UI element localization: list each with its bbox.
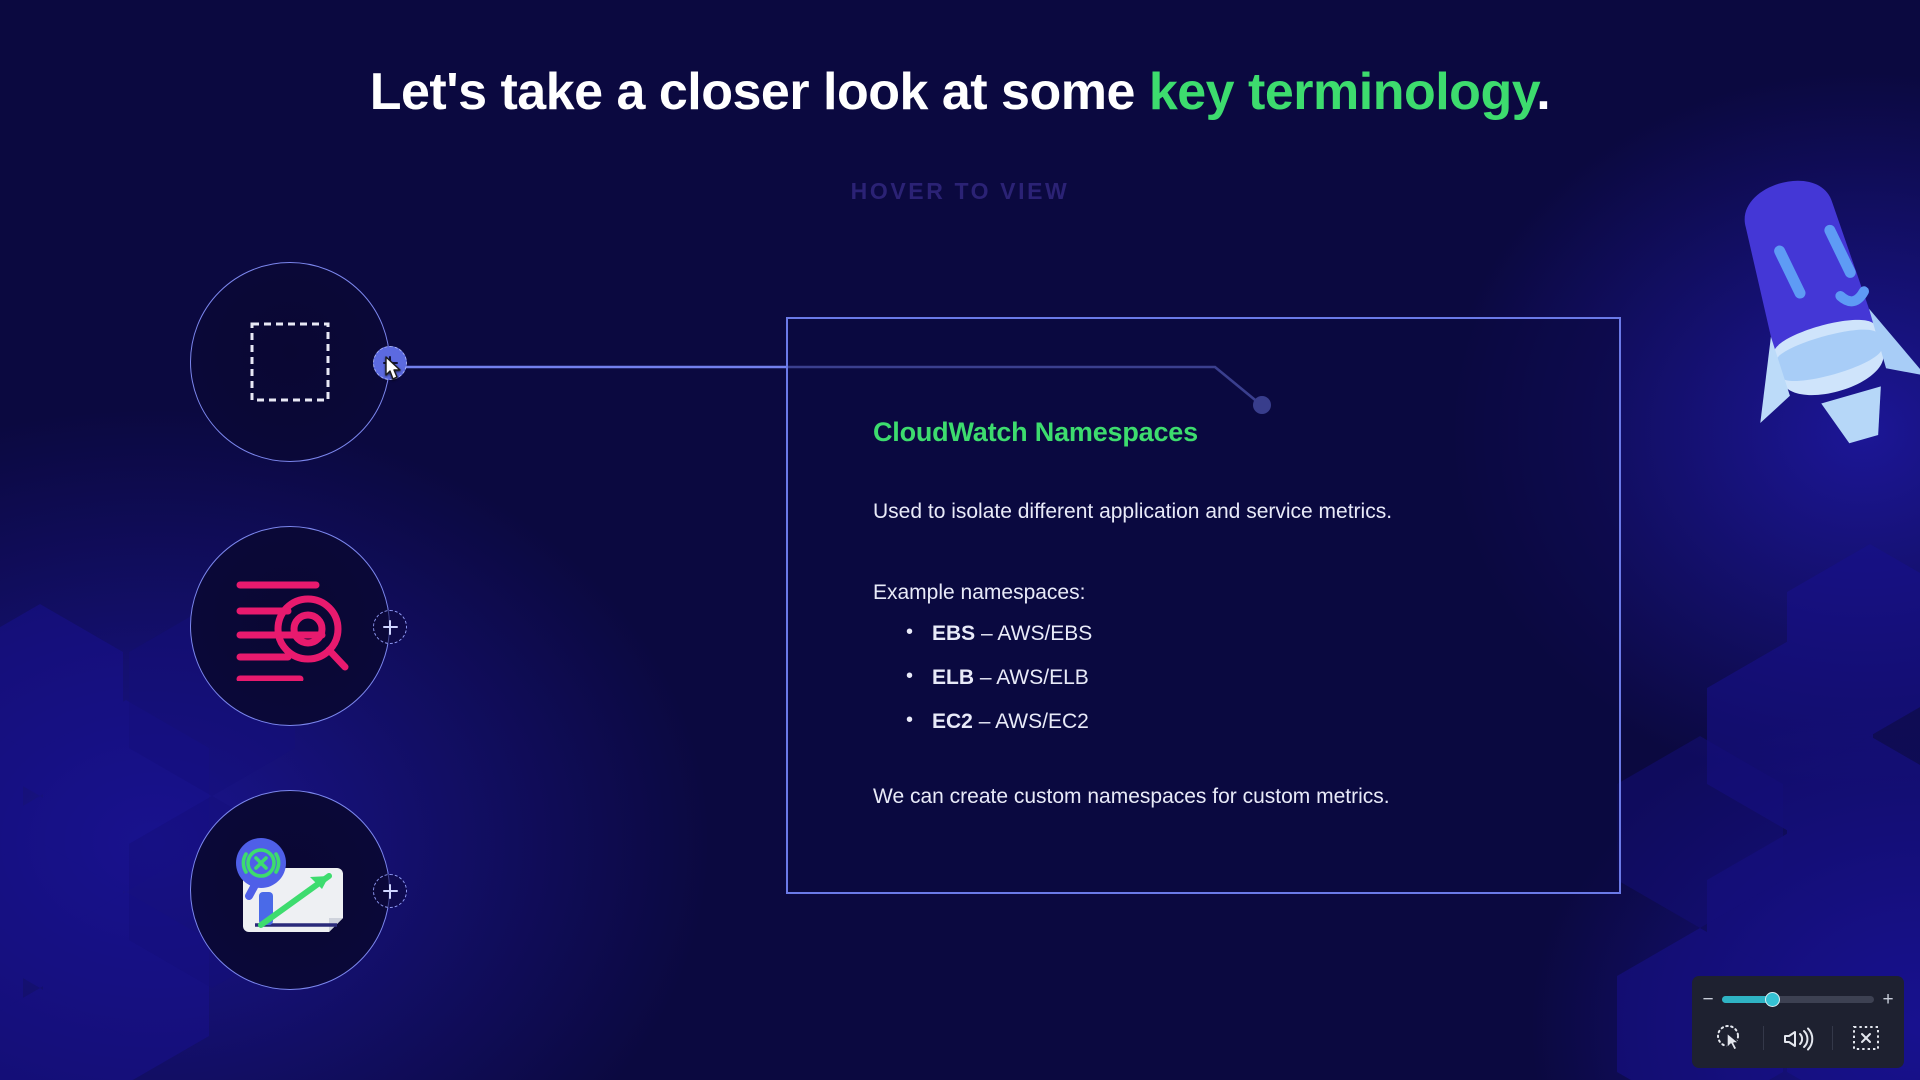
bullet-term: EC2 (932, 710, 973, 733)
expand-button-metrics[interactable] (373, 874, 407, 908)
expand-button-namespaces[interactable] (373, 346, 407, 380)
plus-vertical-bar (389, 356, 391, 371)
detail-panel: CloudWatch Namespaces Used to isolate di… (786, 317, 1621, 894)
sidebar-item-namespaces[interactable] (190, 262, 390, 462)
zoom-slider[interactable] (1722, 996, 1874, 1003)
hover-to-view-hint: HOVER TO VIEW (0, 178, 1920, 205)
plus-vertical-bar (389, 620, 391, 635)
log-search-icon (230, 571, 350, 681)
sidebar-item-logs[interactable] (190, 526, 390, 726)
bullet-value: AWS/EBS (997, 622, 1092, 645)
zoom-slider-thumb[interactable] (1765, 992, 1780, 1007)
expand-button-logs[interactable] (373, 610, 407, 644)
page-title: Let's take a closer look at some key ter… (0, 62, 1920, 122)
bullet-dash: – (973, 710, 995, 733)
bullet-value: AWS/EC2 (995, 710, 1089, 733)
dashed-square-icon (246, 318, 334, 406)
close-selection-button[interactable] (1844, 1021, 1888, 1055)
bullet-value: AWS/ELB (996, 666, 1089, 689)
title-plain: Let's take a closer look at some (370, 63, 1149, 121)
title-suffix: . (1536, 63, 1550, 121)
title-accent: key terminology (1149, 63, 1536, 121)
panel-heading: CloudWatch Namespaces (873, 417, 1198, 448)
metrics-chart-search-icon (225, 830, 355, 950)
plus-vertical-bar (389, 884, 391, 899)
list-item: ELB – AWS/ELB (898, 666, 1092, 690)
zoom-in-button[interactable]: + (1882, 990, 1894, 1009)
panel-outro-text: We can create custom namespaces for cust… (873, 785, 1390, 809)
panel-intro-text: Used to isolate different application an… (873, 500, 1392, 524)
player-control-bar[interactable]: − + (1692, 976, 1904, 1068)
list-item: EBS – AWS/EBS (898, 622, 1092, 646)
panel-examples-label: Example namespaces: (873, 581, 1085, 605)
rocket-mascot (1714, 168, 1920, 468)
bullet-dash: – (975, 622, 997, 645)
slide-canvas: Let's take a closer look at some key ter… (0, 0, 1920, 1080)
bullet-dash: – (974, 666, 996, 689)
control-divider (1832, 1026, 1833, 1050)
list-item: EC2 – AWS/EC2 (898, 710, 1092, 734)
bullet-term: EBS (932, 622, 975, 645)
control-divider (1763, 1026, 1764, 1050)
bullet-term: ELB (932, 666, 974, 689)
zoom-out-button[interactable]: − (1702, 990, 1714, 1009)
zoom-control-row[interactable]: − + (1702, 984, 1894, 1014)
volume-button[interactable] (1776, 1021, 1820, 1055)
namespace-example-list: EBS – AWS/EBS ELB – AWS/ELB EC2 – AWS/EC… (898, 622, 1092, 754)
control-icon-row[interactable] (1702, 1014, 1894, 1062)
sidebar-item-metrics[interactable] (190, 790, 390, 990)
pointer-tool-button[interactable] (1708, 1021, 1752, 1055)
